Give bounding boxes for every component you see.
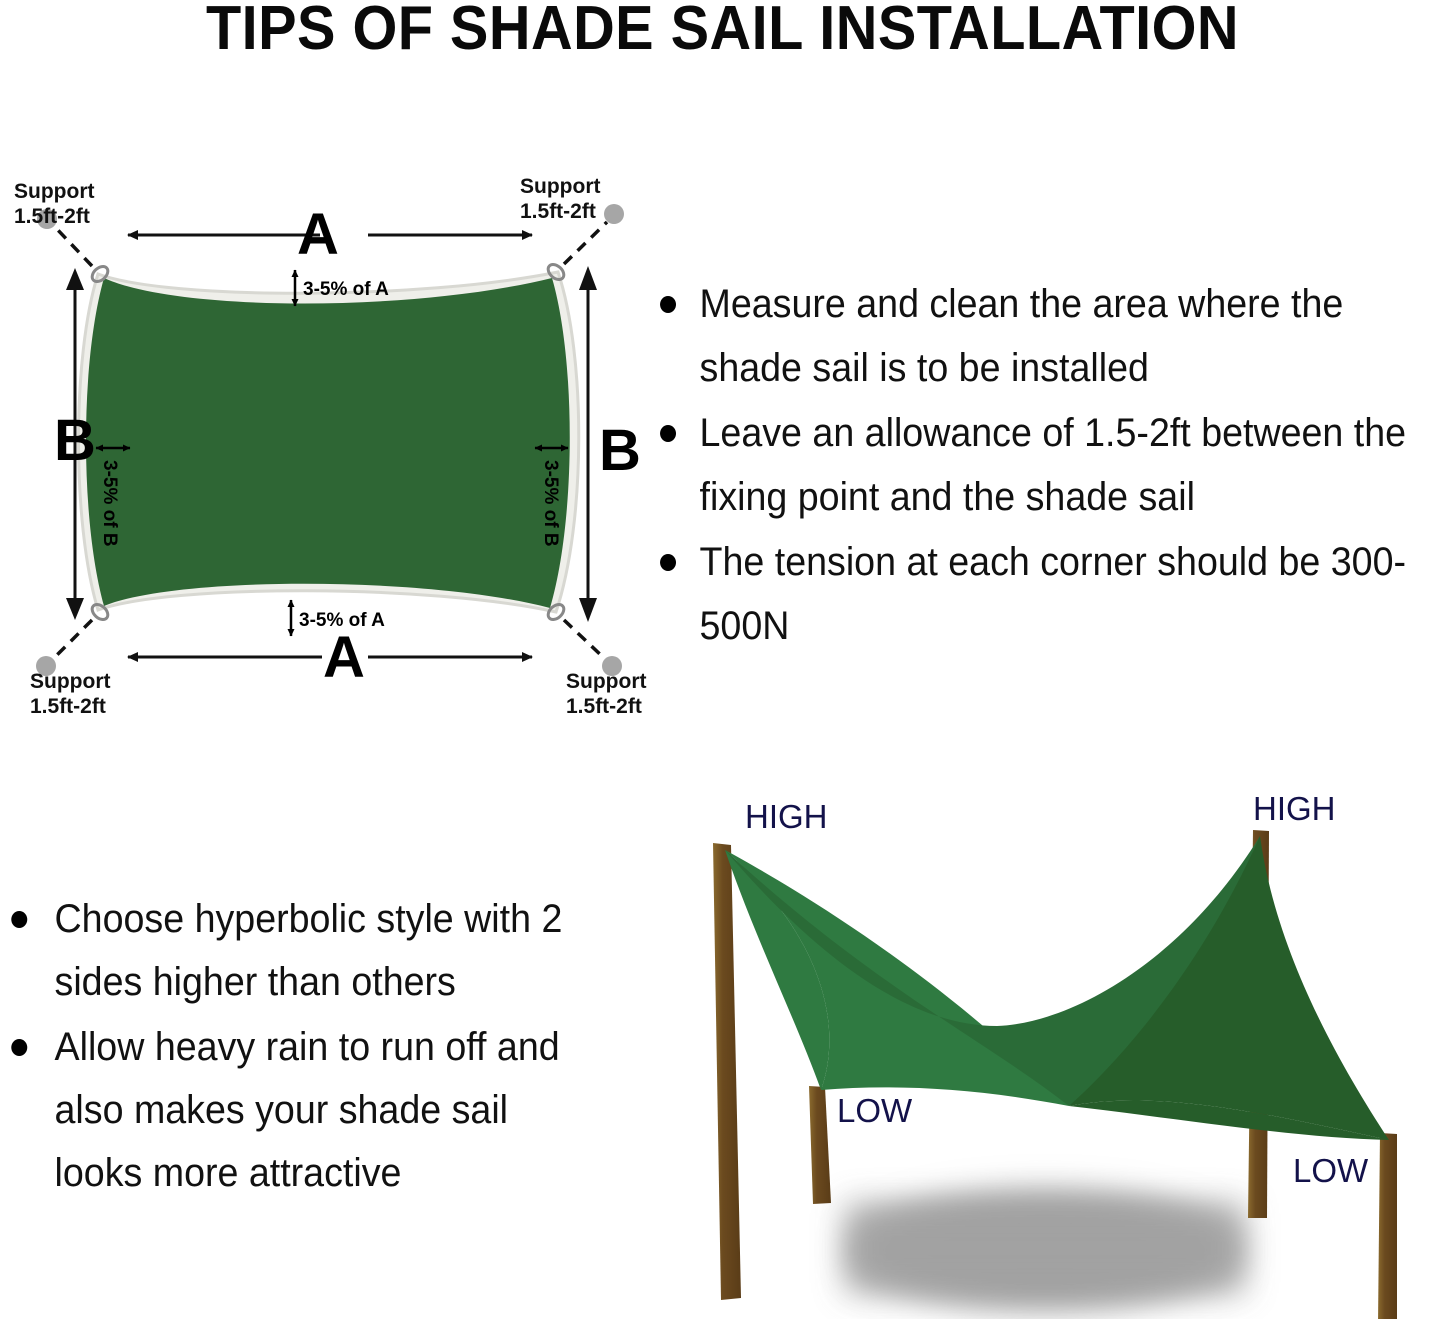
ground-shadow-rect (845, 1203, 1245, 1293)
rectangular-sail-diagram: Support 1.5ft-2ft Support 1.5ft-2ft Supp… (0, 160, 680, 900)
label-high-right: HIGH (1253, 790, 1336, 827)
infographic-page: TIPS OF SHADE SAIL INSTALLATION (0, 0, 1445, 1319)
dimension-b-label: B (54, 408, 96, 473)
dimension-b-right: B (579, 266, 641, 622)
support-label-line1: Support (30, 670, 110, 693)
support-label-line1: Support (14, 180, 94, 203)
support-label-line1: Support (520, 175, 600, 198)
tips-bottom-item: Choose hyperbolic style with 2 sides hig… (0, 888, 602, 1014)
support-label-line2: 1.5ft-2ft (30, 695, 106, 718)
support-label-line2: 1.5ft-2ft (520, 200, 596, 223)
support-label-line2: 1.5ft-2ft (566, 695, 642, 718)
dimension-a-bottom: A (128, 625, 532, 690)
tips-bottom-list: Choose hyperbolic style with 2 sides hig… (0, 888, 640, 1207)
hyperbolic-sail-diagram: HIGH HIGH LOW LOW (645, 788, 1445, 1319)
dimension-a-label: A (297, 202, 339, 267)
tips-top-item: Measure and clean the area where the sha… (645, 272, 1416, 400)
curve-depth-a-label: 3-5% of A (303, 279, 389, 300)
tips-top-item: The tension at each corner should be 300… (645, 530, 1416, 658)
support-label-line2: 1.5ft-2ft (14, 205, 90, 228)
curve-depth-b-label: 3-5% of B (540, 460, 561, 547)
dimension-a-top: A (128, 202, 532, 267)
post-low-left (809, 1086, 831, 1204)
support-label-bottom-left: Support 1.5ft-2ft (30, 670, 110, 718)
page-title: TIPS OF SHADE SAIL INSTALLATION (51, 0, 1395, 61)
support-label-top-left: Support 1.5ft-2ft (14, 180, 94, 228)
label-low-right: LOW (1293, 1152, 1369, 1189)
dimension-b-label: B (599, 418, 641, 483)
dimension-a-label: A (323, 625, 365, 690)
curve-depth-b-label: 3-5% of B (99, 460, 120, 547)
support-label-bottom-right: Support 1.5ft-2ft (566, 670, 646, 718)
tips-bottom-item: Allow heavy rain to run off and also mak… (0, 1016, 602, 1205)
post-high-left (713, 843, 741, 1300)
sail-body (86, 278, 570, 608)
support-label-line1: Support (566, 670, 646, 693)
label-high-left: HIGH (745, 798, 828, 835)
support-label-top-right: Support 1.5ft-2ft (520, 175, 600, 223)
curve-depth-a-label: 3-5% of A (299, 610, 385, 631)
label-low-left: LOW (837, 1092, 913, 1129)
curve-depth-a-bottom: 3-5% of A (291, 600, 385, 636)
post-low-right (1378, 1133, 1397, 1319)
tips-top-item: Leave an allowance of 1.5-2ft between th… (645, 401, 1416, 529)
tips-top-list: Measure and clean the area where the sha… (645, 272, 1445, 659)
